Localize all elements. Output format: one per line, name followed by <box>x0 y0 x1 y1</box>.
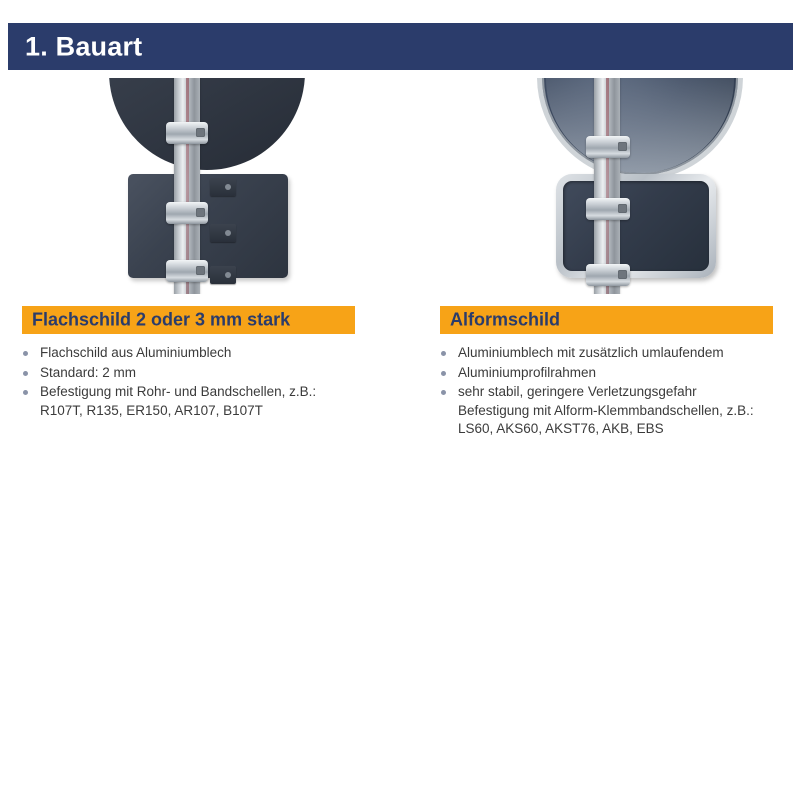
list-item: Flachschild aus Aluminiumblech <box>22 344 394 363</box>
list-item: Aluminiumprofilrahmen <box>440 364 800 383</box>
list-item-continuation: Befestigung mit Alform-Klemmbandschellen… <box>458 402 800 421</box>
page-root: { "page": { "language": "de", "backgroun… <box>0 0 800 800</box>
list-item-continuation-2: LS60, AKS60, AKST76, AKB, EBS <box>458 420 800 439</box>
alform-clamp-icon <box>586 198 630 220</box>
bullet-list-flachschild: Flachschild aus Aluminiumblech Standard:… <box>22 344 394 421</box>
column-alformschild: Alformschild Aluminiumblech mit zusätzli… <box>426 78 800 294</box>
mounting-bracket-icon <box>210 266 236 284</box>
mast-pole-icon <box>594 78 620 294</box>
band-clamp-icon <box>166 122 208 144</box>
round-sign-framed-icon <box>537 78 743 180</box>
list-item: Befestigung mit Rohr- und Bandschellen, … <box>22 383 394 420</box>
list-item: sehr stabil, geringere Verletzungsgefahr… <box>440 383 800 439</box>
mounting-bracket-icon <box>210 178 236 196</box>
column-flachschild: Flachschild 2 oder 3 mm stark Flachschil… <box>8 78 398 294</box>
list-item-text: Befestigung mit Rohr- und Bandschellen, … <box>40 384 316 399</box>
list-item-continuation: R107T, R135, ER150, AR107, B107T <box>40 402 394 421</box>
caption-bar-alformschild: Alformschild <box>440 306 773 334</box>
band-clamp-icon <box>166 260 208 282</box>
list-item-text: Aluminiumblech mit zusätzlich umlaufende… <box>458 345 724 360</box>
list-item-text: Aluminiumprofilrahmen <box>458 365 596 380</box>
alform-clamp-icon <box>586 136 630 158</box>
list-item-text: Flachschild aus Aluminiumblech <box>40 345 231 360</box>
caption-label-flachschild: Flachschild 2 oder 3 mm stark <box>32 310 290 331</box>
band-clamp-icon <box>166 202 208 224</box>
alform-clamp-icon <box>586 264 630 286</box>
bullet-list-alformschild: Aluminiumblech mit zusätzlich umlaufende… <box>440 344 800 440</box>
sign-alform-photo <box>520 78 750 294</box>
alform-sign-plate-icon <box>556 174 716 278</box>
sign-flat-photo <box>92 78 322 294</box>
figure-alformschild <box>426 78 800 294</box>
flat-sign-plate-icon <box>128 174 288 278</box>
list-item: Aluminiumblech mit zusätzlich umlaufende… <box>440 344 800 363</box>
mounting-bracket-icon <box>210 224 236 242</box>
figure-flachschild <box>8 78 398 294</box>
section-header-bar: 1. Bauart <box>8 23 793 70</box>
list-item: Standard: 2 mm <box>22 364 394 383</box>
page-title: 1. Bauart <box>25 31 142 62</box>
list-item-text: sehr stabil, geringere Verletzungsgefahr <box>458 384 697 399</box>
caption-label-alformschild: Alformschild <box>450 310 560 331</box>
list-item-text: Standard: 2 mm <box>40 365 136 380</box>
caption-bar-flachschild: Flachschild 2 oder 3 mm stark <box>22 306 355 334</box>
